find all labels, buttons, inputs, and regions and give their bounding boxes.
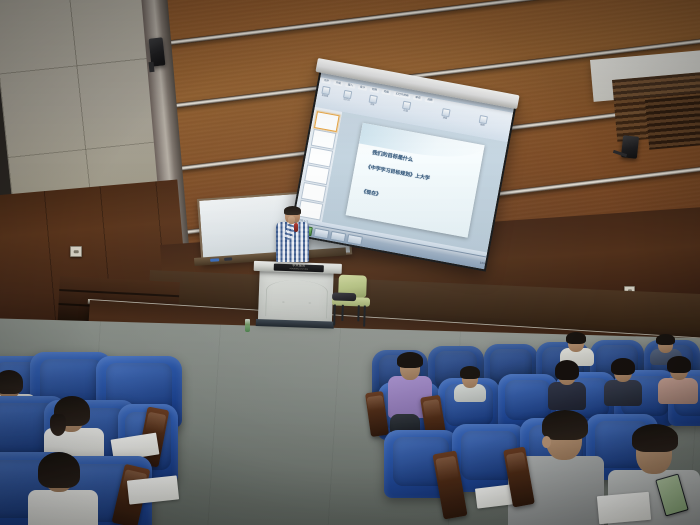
student-hair <box>0 370 23 394</box>
student-body <box>28 490 98 525</box>
ppt-group-slides[interactable]: 幻灯片 <box>342 90 352 103</box>
student-hair <box>38 452 80 488</box>
student-ponytail <box>50 414 66 436</box>
paste-icon[interactable] <box>321 86 330 95</box>
ppt-group-paragraph[interactable]: 段落 <box>401 101 411 114</box>
student-left-row3-notetaker <box>28 452 98 525</box>
student-back-row-left <box>560 332 594 362</box>
ppt-tab-animations[interactable]: 动画 <box>381 90 391 96</box>
presenter-hair <box>284 206 301 215</box>
ppt-tab-slideshow[interactable]: 幻灯片放映 <box>393 92 410 99</box>
ppt-tab-insert[interactable]: 插入 <box>345 83 355 89</box>
presenter <box>272 207 312 269</box>
student-hair <box>611 358 635 375</box>
slide-line-2: 《中学学习目标规划》上大学 <box>365 163 430 182</box>
paragraph-icon[interactable] <box>402 101 411 110</box>
bag-on-chair[interactable] <box>332 292 356 301</box>
ppt-group-drawing[interactable]: 绘图 <box>441 108 451 121</box>
podium[interactable]: 学术报告 ACADEMIC LECTURE <box>256 261 336 328</box>
ppt-tab-view[interactable]: 视图 <box>425 98 435 104</box>
current-slide[interactable]: 我们的目标是什么 《中学学习目标规划》上大学 《现在》 <box>346 123 485 238</box>
student-body <box>604 380 642 406</box>
slide-line-3: 《现在》 <box>361 187 382 198</box>
chair-leg-3 <box>341 305 344 321</box>
ppt-tab-transitions[interactable]: 切换 <box>369 87 379 93</box>
side-chair[interactable] <box>327 274 371 327</box>
student-hair <box>460 366 480 379</box>
ppt-group-editing[interactable]: 编辑 <box>478 115 488 128</box>
find-icon[interactable] <box>479 115 488 124</box>
student-hair <box>555 360 579 380</box>
speaker-bracket-left <box>148 62 154 72</box>
student-r2-right <box>604 358 642 404</box>
presenter-hand <box>288 216 295 224</box>
water-bottle[interactable] <box>245 319 250 332</box>
marker-blue[interactable] <box>210 258 219 262</box>
student-hair <box>656 334 675 345</box>
student-r2-far-right <box>658 356 698 402</box>
taskbar-item-powerpoint[interactable] <box>313 227 329 239</box>
student-left-row2-notetaker <box>44 396 106 458</box>
ppt-group-clipboard[interactable]: 剪贴板 <box>321 86 331 99</box>
wall-outlet-left[interactable] <box>70 246 82 257</box>
acoustic-slat-panel-2 <box>645 95 700 150</box>
taskbar-item-browser[interactable] <box>330 230 346 242</box>
marker-dark[interactable] <box>224 257 232 261</box>
student-r2-girl-1 <box>454 366 486 400</box>
ppt-group-font[interactable]: 字体 <box>368 95 378 108</box>
ppt-tab-file[interactable]: 文件 <box>321 79 331 85</box>
notebook-right-1[interactable] <box>597 492 651 524</box>
ppt-tab-review[interactable]: 审阅 <box>413 96 423 102</box>
student-r2-girl-2 <box>548 360 586 408</box>
podium-body <box>258 270 334 325</box>
lecture-hall-photo: 文件 开始 插入 设计 切换 动画 幻灯片放映 审阅 视图 剪贴板 幻灯片 字体 <box>0 0 700 525</box>
shapes-icon[interactable] <box>441 108 450 117</box>
student-body <box>658 378 698 404</box>
font-icon[interactable] <box>369 95 378 104</box>
student-body <box>548 382 586 410</box>
student-hair <box>667 356 691 373</box>
chair-leg-4 <box>357 305 360 321</box>
student-hair <box>542 410 588 440</box>
microphone <box>294 223 298 232</box>
ppt-tab-design[interactable]: 设计 <box>357 85 367 91</box>
taskbar-item-folder[interactable] <box>347 233 363 245</box>
student-hair <box>632 424 678 452</box>
student-ear <box>542 436 551 448</box>
new-slide-icon[interactable] <box>343 90 352 99</box>
taskbar-clock: 14:05 <box>479 261 487 265</box>
student-hair <box>566 332 586 344</box>
slide-line-1: 我们的目标是什么 <box>372 149 414 163</box>
chair-leg-2 <box>363 306 366 327</box>
ppt-tab-home[interactable]: 开始 <box>333 81 343 87</box>
student-hair <box>397 352 423 368</box>
chair-leg-1 <box>333 304 336 325</box>
